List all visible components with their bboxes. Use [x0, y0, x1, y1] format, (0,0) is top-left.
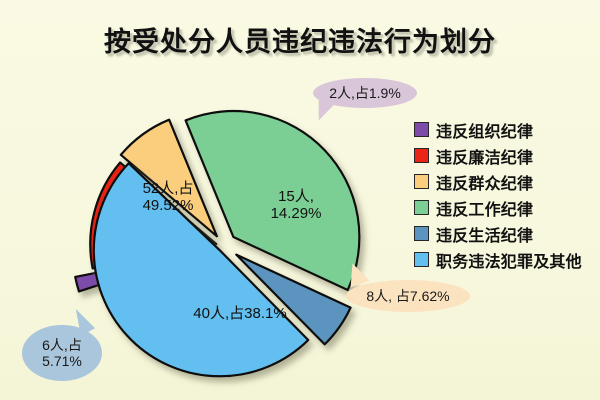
legend-swatch-icon [414, 148, 429, 163]
legend-label: 违反群众纪律 [436, 170, 533, 194]
callout-违反生活纪律: 6人,占 5.71% [22, 325, 102, 381]
callout-违反群众纪律: 8人, 占7.62% [346, 280, 470, 312]
legend-label: 违反工作纪律 [436, 196, 533, 220]
legend-item-违反生活纪律[interactable]: 违反生活纪律 [414, 222, 582, 245]
legend-swatch-icon [414, 200, 429, 215]
legend-swatch-icon [414, 174, 429, 189]
legend-label: 违反组织纪律 [436, 118, 533, 142]
pie-slices [75, 111, 359, 376]
legend-item-违反群众纪律[interactable]: 违反群众纪律 [414, 170, 582, 193]
chart-legend: 违反组织纪律违反廉洁纪律违反群众纪律违反工作纪律违反生活纪律职务违法犯罪及其他 [414, 118, 582, 271]
callout-违反组织纪律: 2人,占1.9% [313, 78, 417, 108]
chart-canvas: 按受处分人员违纪违法行为划分 52人,占 49.52% 15人, 14.29% … [0, 0, 600, 400]
legend-label: 职务违法犯罪及其他 [436, 248, 582, 272]
legend-item-违反组织纪律[interactable]: 违反组织纪律 [414, 118, 582, 141]
legend-item-违反廉洁纪律[interactable]: 违反廉洁纪律 [414, 144, 582, 167]
legend-label: 违反生活纪律 [436, 222, 533, 246]
legend-swatch-icon [414, 226, 429, 241]
legend-label: 违反廉洁纪律 [436, 144, 533, 168]
legend-swatch-icon [414, 252, 429, 267]
legend-swatch-icon [414, 122, 429, 137]
legend-item-职务违法犯罪及其他[interactable]: 职务违法犯罪及其他 [414, 248, 582, 271]
legend-item-违反工作纪律[interactable]: 违反工作纪律 [414, 196, 582, 219]
